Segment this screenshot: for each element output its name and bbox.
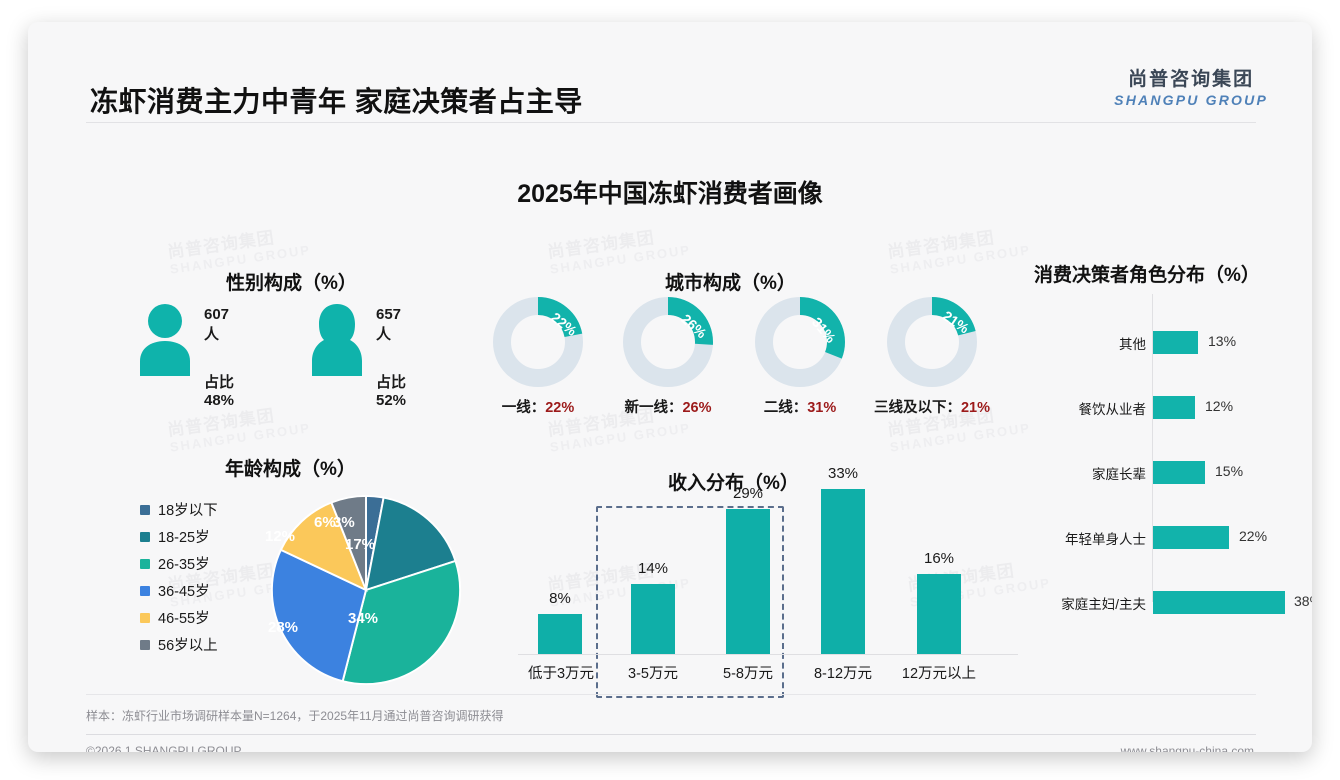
legend-swatch (140, 586, 150, 596)
legend-swatch (140, 532, 150, 542)
income-value-2: 29% (713, 485, 783, 502)
donut-caption-newtier1: 新一线：26% (600, 396, 736, 417)
legend-swatch (140, 559, 150, 569)
income-category-0: 低于3万元 (516, 662, 606, 683)
decision-value-single: 22% (1239, 528, 1267, 544)
legend-item: 18岁以下 (140, 496, 218, 523)
male-silhouette-icon (136, 302, 194, 376)
decision-bar-foodservice (1153, 396, 1195, 419)
infographic-slide: 尚普咨询集团 SHANGPU GROUP 尚普咨询集团 SHANGPU GROU… (28, 22, 1312, 752)
decision-value-elder: 15% (1215, 463, 1243, 479)
income-bar-3 (821, 489, 865, 654)
legend-item: 56岁以上 (140, 631, 218, 658)
decision-row-elder: 家庭长辈 15% (1028, 458, 1298, 486)
income-bar-0 (538, 614, 582, 654)
decision-row-homemaker: 家庭主妇/主夫 38% (1028, 588, 1298, 616)
page-title: 冻虾消费主力中青年 家庭决策者占主导 (90, 80, 583, 120)
donut-chart-tier3: 21% 三线及以下：21% (884, 294, 980, 390)
legend-label: 18-25岁 (158, 526, 210, 547)
decision-label-other: 其他 (1119, 333, 1146, 353)
footer-website: www.shangpu-china.com (1121, 744, 1254, 752)
legend-label: 46-55岁 (158, 607, 210, 628)
brand-logo: 尚普咨询集团 SHANGPU GROUP (1114, 64, 1268, 108)
donut-caption-tier3: 三线及以下：21% (852, 396, 1012, 417)
city-section-title: 城市构成（%） (665, 268, 796, 295)
decision-label-elder: 家庭长辈 (1092, 463, 1146, 483)
pie-legend: 18岁以下 18-25岁 26-35岁 36-45岁 46-55岁 56岁以上 (140, 496, 218, 658)
decision-bar-elder (1153, 461, 1205, 484)
pie-label-36-45: 28% (268, 619, 298, 636)
gender-composition: 607人 占比48% 657人 占比52% (118, 284, 468, 394)
pie-label-46-55: 12% (265, 528, 295, 545)
decision-section-title: 消费决策者角色分布（%） (1034, 260, 1260, 287)
decision-label-homemaker: 家庭主妇/主夫 (1061, 593, 1146, 613)
income-category-4: 12万元以上 (891, 662, 987, 683)
decision-value-foodservice: 12% (1205, 398, 1233, 414)
footer-copyright: ©2026.1 SHANGPU GROUP (86, 744, 242, 752)
legend-label: 18岁以下 (158, 499, 218, 520)
pie-label-26-35: 34% (348, 610, 378, 627)
donut-chart-tier1: 22% 一线：22% (490, 294, 586, 390)
income-category-3: 8-12万元 (799, 662, 887, 683)
female-silhouette-icon (308, 302, 366, 376)
legend-swatch (140, 640, 150, 650)
decision-value-other: 13% (1208, 333, 1236, 349)
income-category-1: 3-5万元 (613, 662, 693, 683)
income-category-2: 5-8万元 (708, 662, 788, 683)
legend-label: 36-45岁 (158, 580, 210, 601)
donut-chart-newtier1: 26% 新一线：26% (620, 294, 716, 390)
decision-role-chart: 其他 13% 餐饮从业者 12% 家庭长辈 15% 年轻单身人士 22% 家庭主… (1028, 290, 1298, 620)
legend-swatch (140, 613, 150, 623)
income-value-1: 14% (618, 560, 688, 577)
pie-label-under-18: 3% (333, 514, 355, 531)
decision-value-homemaker: 38% (1294, 593, 1312, 609)
logo-cn-text: 尚普咨询集团 (1114, 64, 1268, 91)
legend-item: 18-25岁 (140, 523, 218, 550)
gender-percent-male: 占比48% (204, 371, 234, 409)
income-value-3: 33% (808, 465, 878, 482)
income-value-0: 8% (525, 590, 595, 607)
footer-divider (86, 734, 1256, 735)
age-composition-pie: 18岁以下 18-25岁 26-35岁 36-45岁 46-55岁 56岁以上 (140, 492, 470, 692)
income-bar-1 (631, 584, 675, 654)
age-section-title: 年龄构成（%） (225, 454, 356, 481)
decision-bar-single (1153, 526, 1229, 549)
header: 冻虾消费主力中青年 家庭决策者占主导 尚普咨询集团 SHANGPU GROUP (28, 22, 1312, 112)
watermark: 尚普咨询集团 SHANGPU GROUP (886, 224, 1031, 276)
legend-swatch (140, 505, 150, 515)
pie-chart-svg (268, 492, 464, 688)
income-baseline (518, 654, 1018, 655)
income-bar-2 (726, 509, 770, 654)
decision-row-single: 年轻单身人士 22% (1028, 523, 1298, 551)
decision-bar-other (1153, 331, 1198, 354)
decision-label-foodservice: 餐饮从业者 (1079, 398, 1147, 418)
legend-item: 36-45岁 (140, 577, 218, 604)
legend-item: 26-35岁 (140, 550, 218, 577)
legend-item: 46-55岁 (140, 604, 218, 631)
income-value-4: 16% (904, 550, 974, 567)
header-divider (86, 122, 1256, 123)
income-distribution-chart: 8% 低于3万元 14% 3-5万元 29% 5-8万元 33% 8-12万元 … (514, 494, 1034, 694)
gender-count-female: 657人 (376, 306, 406, 344)
gender-count-male: 607人 (204, 306, 234, 344)
income-bar-4 (917, 574, 961, 654)
source-note: 样本：冻虾行业市场调研样本量N=1264，于2025年11月通过尚普咨询调研获得 (86, 694, 1256, 724)
decision-label-single: 年轻单身人士 (1065, 528, 1146, 548)
decision-row-other: 其他 13% (1028, 328, 1298, 356)
legend-label: 56岁以上 (158, 634, 218, 655)
logo-en-text: SHANGPU GROUP (1114, 92, 1268, 108)
donut-chart-tier2: 31% 二线：31% (752, 294, 848, 390)
decision-bar-homemaker (1153, 591, 1285, 614)
donut-caption-tier2: 二线：31% (738, 396, 862, 417)
watermark: 尚普咨询集团 SHANGPU GROUP (166, 402, 311, 454)
legend-label: 26-35岁 (158, 553, 210, 574)
decision-row-foodservice: 餐饮从业者 12% (1028, 393, 1298, 421)
city-composition-donuts: 22% 一线：22% 26% 新一线：26% 31% 二线：31% 2 (480, 294, 1020, 409)
gender-percent-female: 占比52% (376, 371, 406, 409)
pie-label-18-25: 17% (345, 536, 375, 553)
donut-caption-tier1: 一线：22% (476, 396, 600, 417)
chart-subtitle: 2025年中国冻虾消费者画像 (28, 174, 1312, 210)
